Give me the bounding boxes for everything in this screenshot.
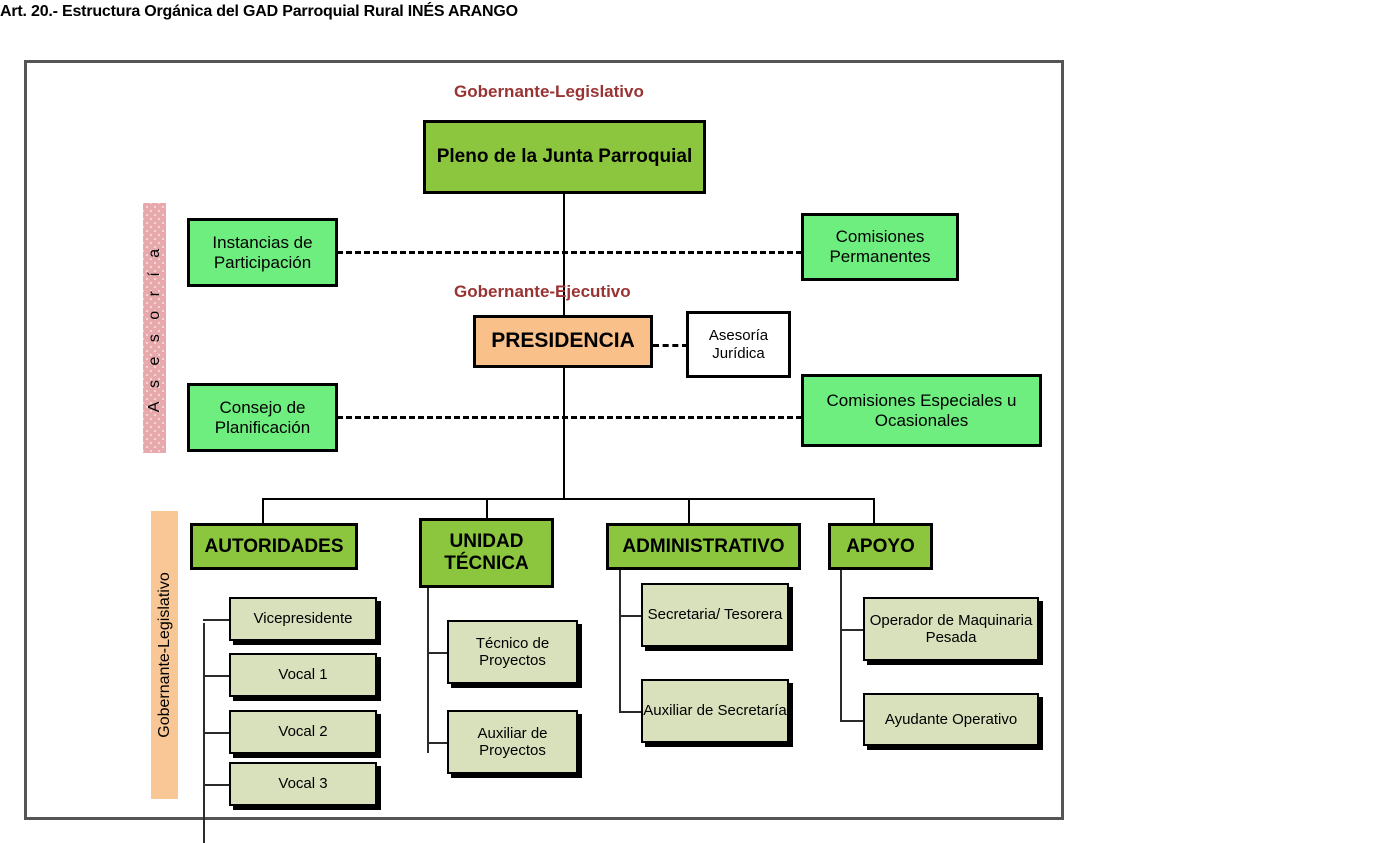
connector-apoyo-child-2 xyxy=(840,720,863,722)
page-title: Art. 20.- Estructura Orgánica del GAD Pa… xyxy=(0,3,518,21)
connector-dashed-instancias-comisiones xyxy=(337,251,802,254)
node-auxiliar-de-secretaria[interactable]: Auxiliar de Secretaría xyxy=(641,679,789,743)
connector-apoyo-spine xyxy=(840,562,842,722)
node-auxiliar-de-proyectos[interactable]: Auxiliar de Proyectos xyxy=(447,710,578,774)
connector-drop-apoyo xyxy=(873,498,875,523)
node-vicepresidente[interactable]: Vicepresidente xyxy=(229,597,377,641)
connector-unidad-tecnica-child-2 xyxy=(427,742,447,744)
caption-gobernante-legislativo: Gobernante-Legislativo xyxy=(454,82,644,102)
side-band-gobernante-label: Gobernante-Legislativo xyxy=(156,572,174,737)
side-band-asesoria-label: A s e s o r í a xyxy=(146,244,164,412)
node-vocal-2[interactable]: Vocal 2 xyxy=(229,710,377,754)
node-asesoria-juridica[interactable]: Asesoría Jurídica xyxy=(686,311,791,378)
node-instancias-participacion[interactable]: Instancias de Participación xyxy=(187,218,338,287)
node-tecnico-de-proyectos[interactable]: Técnico de Proyectos xyxy=(447,620,578,684)
node-secretaria-tesorera[interactable]: Secretaria/ Tesorera xyxy=(641,583,789,647)
caption-gobernante-ejecutivo: Gobernante-Ejecutivo xyxy=(454,282,631,302)
node-vocal-1[interactable]: Vocal 1 xyxy=(229,653,377,697)
node-presidencia[interactable]: PRESIDENCIA xyxy=(473,315,653,368)
org-chart-frame: Gobernante-Legislativo Gobernante-Ejecut… xyxy=(24,60,1064,820)
connector-autoridades-child-3 xyxy=(203,732,229,734)
connector-presidencia-to-bus xyxy=(563,359,565,499)
connector-dashed-presidencia-asesoria xyxy=(653,344,688,347)
node-department-apoyo[interactable]: APOYO xyxy=(828,523,933,570)
side-band-asesoria: A s e s o r í a xyxy=(143,203,166,453)
node-ayudante-operativo[interactable]: Ayudante Operativo xyxy=(863,693,1039,746)
connector-administrativo-spine xyxy=(619,562,621,712)
connector-autoridades-child-4 xyxy=(203,784,229,786)
connector-drop-autoridades xyxy=(262,498,264,523)
node-comisiones-especiales[interactable]: Comisiones Especiales u Ocasionales xyxy=(801,374,1042,447)
node-department-autoridades[interactable]: AUTORIDADES xyxy=(190,523,358,570)
connector-department-bus xyxy=(262,498,874,500)
connector-drop-administrativo xyxy=(688,498,690,523)
node-vocal-3[interactable]: Vocal 3 xyxy=(229,762,377,806)
node-department-unidad-tecnica[interactable]: UNIDAD TÉCNICA xyxy=(419,518,554,588)
connector-autoridades-child-1 xyxy=(203,619,229,621)
connector-autoridades-child-2 xyxy=(203,675,229,677)
node-consejo-planificacion[interactable]: Consejo de Planificación xyxy=(187,383,338,452)
node-pleno-junta-parroquial[interactable]: Pleno de la Junta Parroquial xyxy=(423,120,706,194)
connector-administrativo-child-1 xyxy=(619,615,641,617)
connector-unidad-tecnica-child-1 xyxy=(427,652,447,654)
node-comisiones-permanentes[interactable]: Comisiones Permanentes xyxy=(801,213,959,281)
node-operador-maquinaria-pesada[interactable]: Operador de Maquinaria Pesada xyxy=(863,597,1039,661)
connector-dashed-consejo-comisiones xyxy=(337,416,802,419)
side-band-gobernante-legislativo: Gobernante-Legislativo xyxy=(151,511,178,799)
connector-unidad-tecnica-spine xyxy=(427,588,429,753)
connector-apoyo-child-1 xyxy=(840,629,863,631)
connector-administrativo-child-2 xyxy=(619,711,641,713)
node-department-administrativo[interactable]: ADMINISTRATIVO xyxy=(606,523,801,570)
